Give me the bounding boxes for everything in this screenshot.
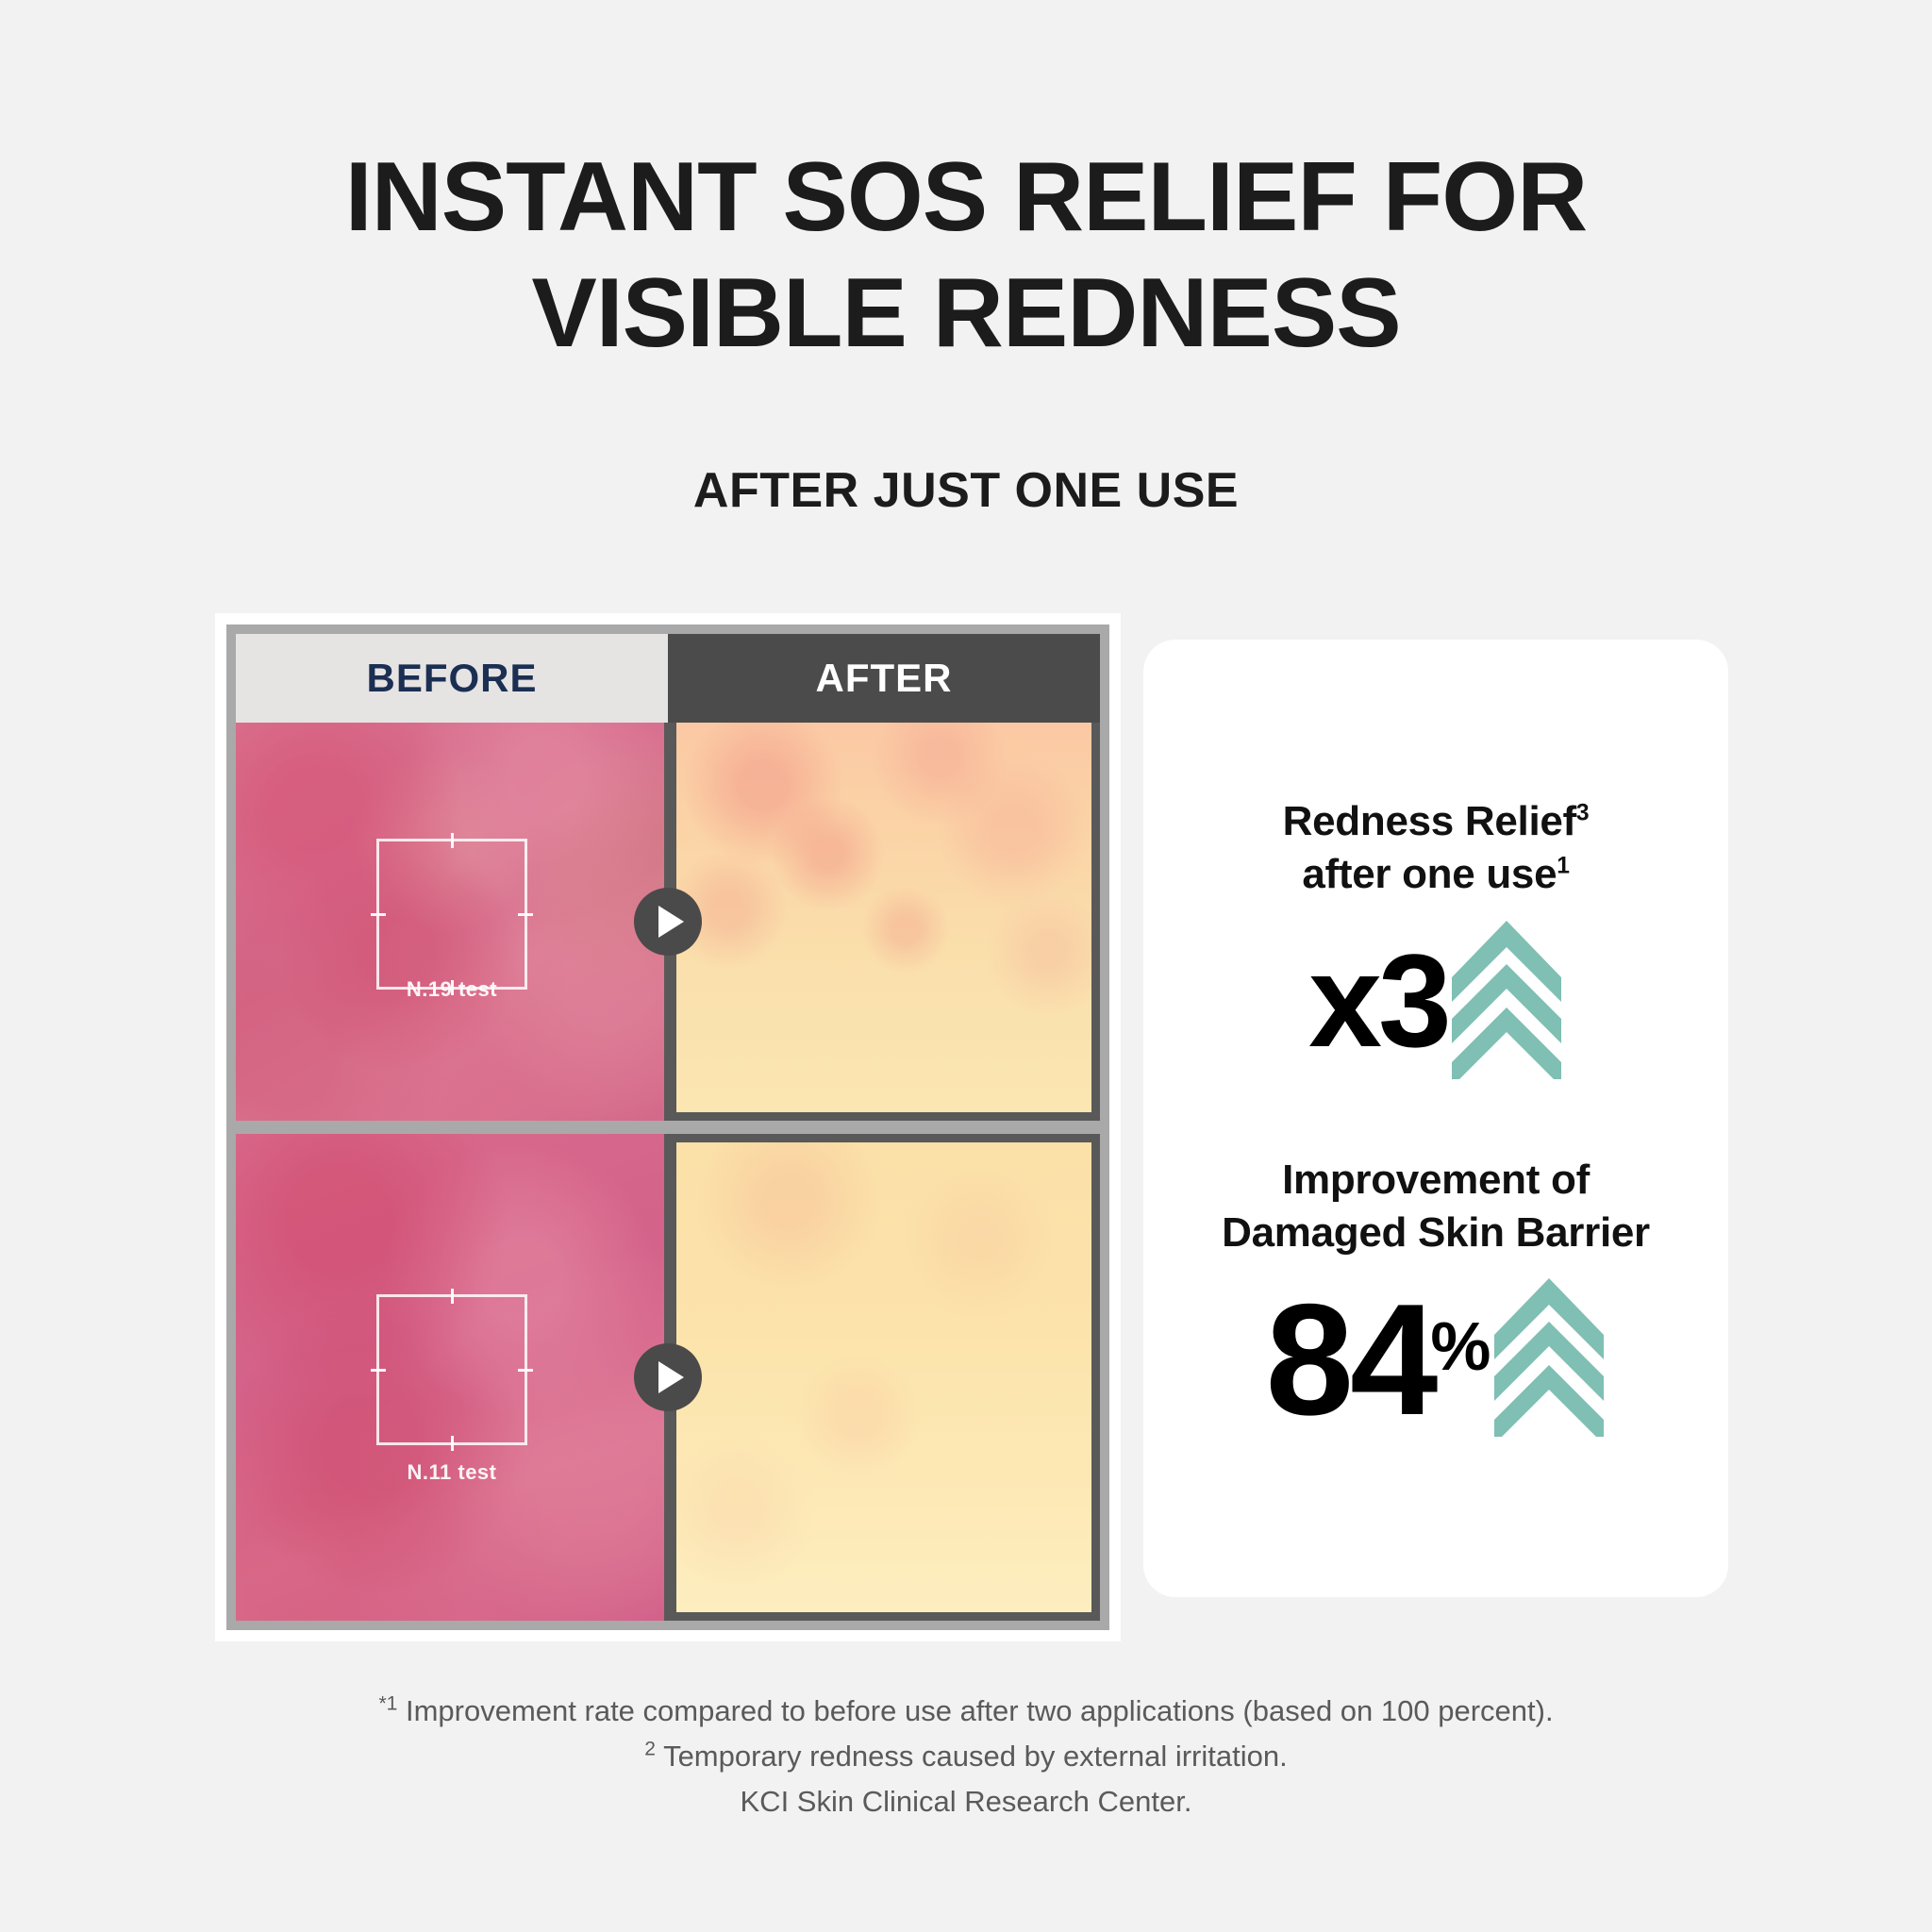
stat-title-2: Improvement of Damaged Skin Barrier xyxy=(1172,1154,1700,1260)
after-label: AFTER xyxy=(816,656,953,701)
tick-right xyxy=(518,1369,533,1372)
before-image-1: N.19 test xyxy=(236,723,668,1121)
after-image-2 xyxy=(668,1134,1100,1621)
play-triangle xyxy=(658,906,684,938)
stat-title-1: Redness Relief3 after one use1 xyxy=(1172,795,1700,902)
footnotes: *1 Improvement rate compared to before u… xyxy=(0,1689,1932,1824)
measurement-frame-overlay xyxy=(376,839,527,990)
stats-card: Redness Relief3 after one use1 x3 Improv… xyxy=(1143,640,1728,1597)
stat-title-1-line2: after one use xyxy=(1302,851,1557,897)
stat-value-1: x3 xyxy=(1308,935,1448,1067)
sample-label-2: N.11 test xyxy=(236,1460,668,1485)
comparison-row: N.11 test xyxy=(236,1134,1100,1621)
comparison-inner-frame: BEFORE AFTER xyxy=(226,625,1109,1630)
up-arrow-chevron-icon xyxy=(1450,919,1563,1084)
tick-right xyxy=(518,913,533,916)
footnote-line-1: *1 Improvement rate compared to before u… xyxy=(0,1689,1932,1734)
stat-redness-relief: Redness Relief3 after one use1 x3 xyxy=(1172,795,1700,1084)
footnote-marker-2: 2 xyxy=(644,1739,656,1760)
stat-title-2-line2: Damaged Skin Barrier xyxy=(1222,1209,1650,1256)
footnote-text-1: Improvement rate compared to before use … xyxy=(397,1694,1553,1727)
stat-unit-2: % xyxy=(1430,1308,1491,1386)
stat-skin-barrier: Improvement of Damaged Skin Barrier 84 % xyxy=(1172,1154,1700,1442)
up-arrow-chevron-icon xyxy=(1492,1276,1606,1441)
sample-label-1: N.19 test xyxy=(236,977,668,1002)
subheadline: AFTER JUST ONE USE xyxy=(0,462,1932,519)
comparison-images-row: N.11 test xyxy=(236,1134,1100,1621)
tick-left xyxy=(371,1369,386,1372)
before-after-comparison: BEFORE AFTER xyxy=(215,613,1121,1641)
comparison-row: BEFORE AFTER xyxy=(236,634,1100,1121)
footnote-line-2: 2 Temporary redness caused by external i… xyxy=(0,1734,1932,1779)
play-icon[interactable] xyxy=(634,888,702,956)
after-image-1 xyxy=(668,723,1100,1121)
comparison-grid: BEFORE AFTER xyxy=(236,634,1100,1621)
footnote-marker-1: *1 xyxy=(378,1693,397,1715)
tick-top xyxy=(451,1289,454,1304)
footnote-line-3: KCI Skin Clinical Research Center. xyxy=(0,1779,1932,1824)
stat-title-1-sup2: 1 xyxy=(1557,854,1569,879)
footnote-text-2: Temporary redness caused by external irr… xyxy=(656,1740,1288,1773)
stat-title-1-sup1: 3 xyxy=(1576,800,1589,825)
comparison-images-row: N.19 test xyxy=(236,723,1100,1121)
stat-title-2-line1: Improvement of xyxy=(1282,1157,1590,1203)
headline-line-2: VISIBLE REDNESS xyxy=(0,256,1932,372)
after-skin-texture-2 xyxy=(668,1134,1100,1621)
stat-title-1-line1: Redness Relief xyxy=(1283,798,1576,844)
after-skin-texture-1 xyxy=(668,723,1100,1121)
comparison-header-row: BEFORE AFTER xyxy=(236,634,1100,723)
after-header: AFTER xyxy=(668,634,1100,723)
tick-bottom xyxy=(451,1436,454,1451)
tick-top xyxy=(451,833,454,848)
stat-value-2: 84 xyxy=(1266,1280,1435,1439)
before-header: BEFORE xyxy=(236,634,668,723)
measurement-frame-overlay xyxy=(376,1294,527,1445)
headline-block: INSTANT SOS RELIEF FOR VISIBLE REDNESS xyxy=(0,140,1932,371)
headline-line-1: INSTANT SOS RELIEF FOR xyxy=(0,140,1932,256)
tick-left xyxy=(371,913,386,916)
before-label: BEFORE xyxy=(366,656,537,701)
stat-value-row-2: 84 % xyxy=(1172,1276,1700,1441)
comparison-row-content: BEFORE AFTER xyxy=(236,634,1100,1121)
play-icon[interactable] xyxy=(634,1343,702,1411)
stat-value-row-1: x3 xyxy=(1172,919,1700,1084)
play-triangle xyxy=(658,1361,684,1393)
before-image-2: N.11 test xyxy=(236,1134,668,1621)
